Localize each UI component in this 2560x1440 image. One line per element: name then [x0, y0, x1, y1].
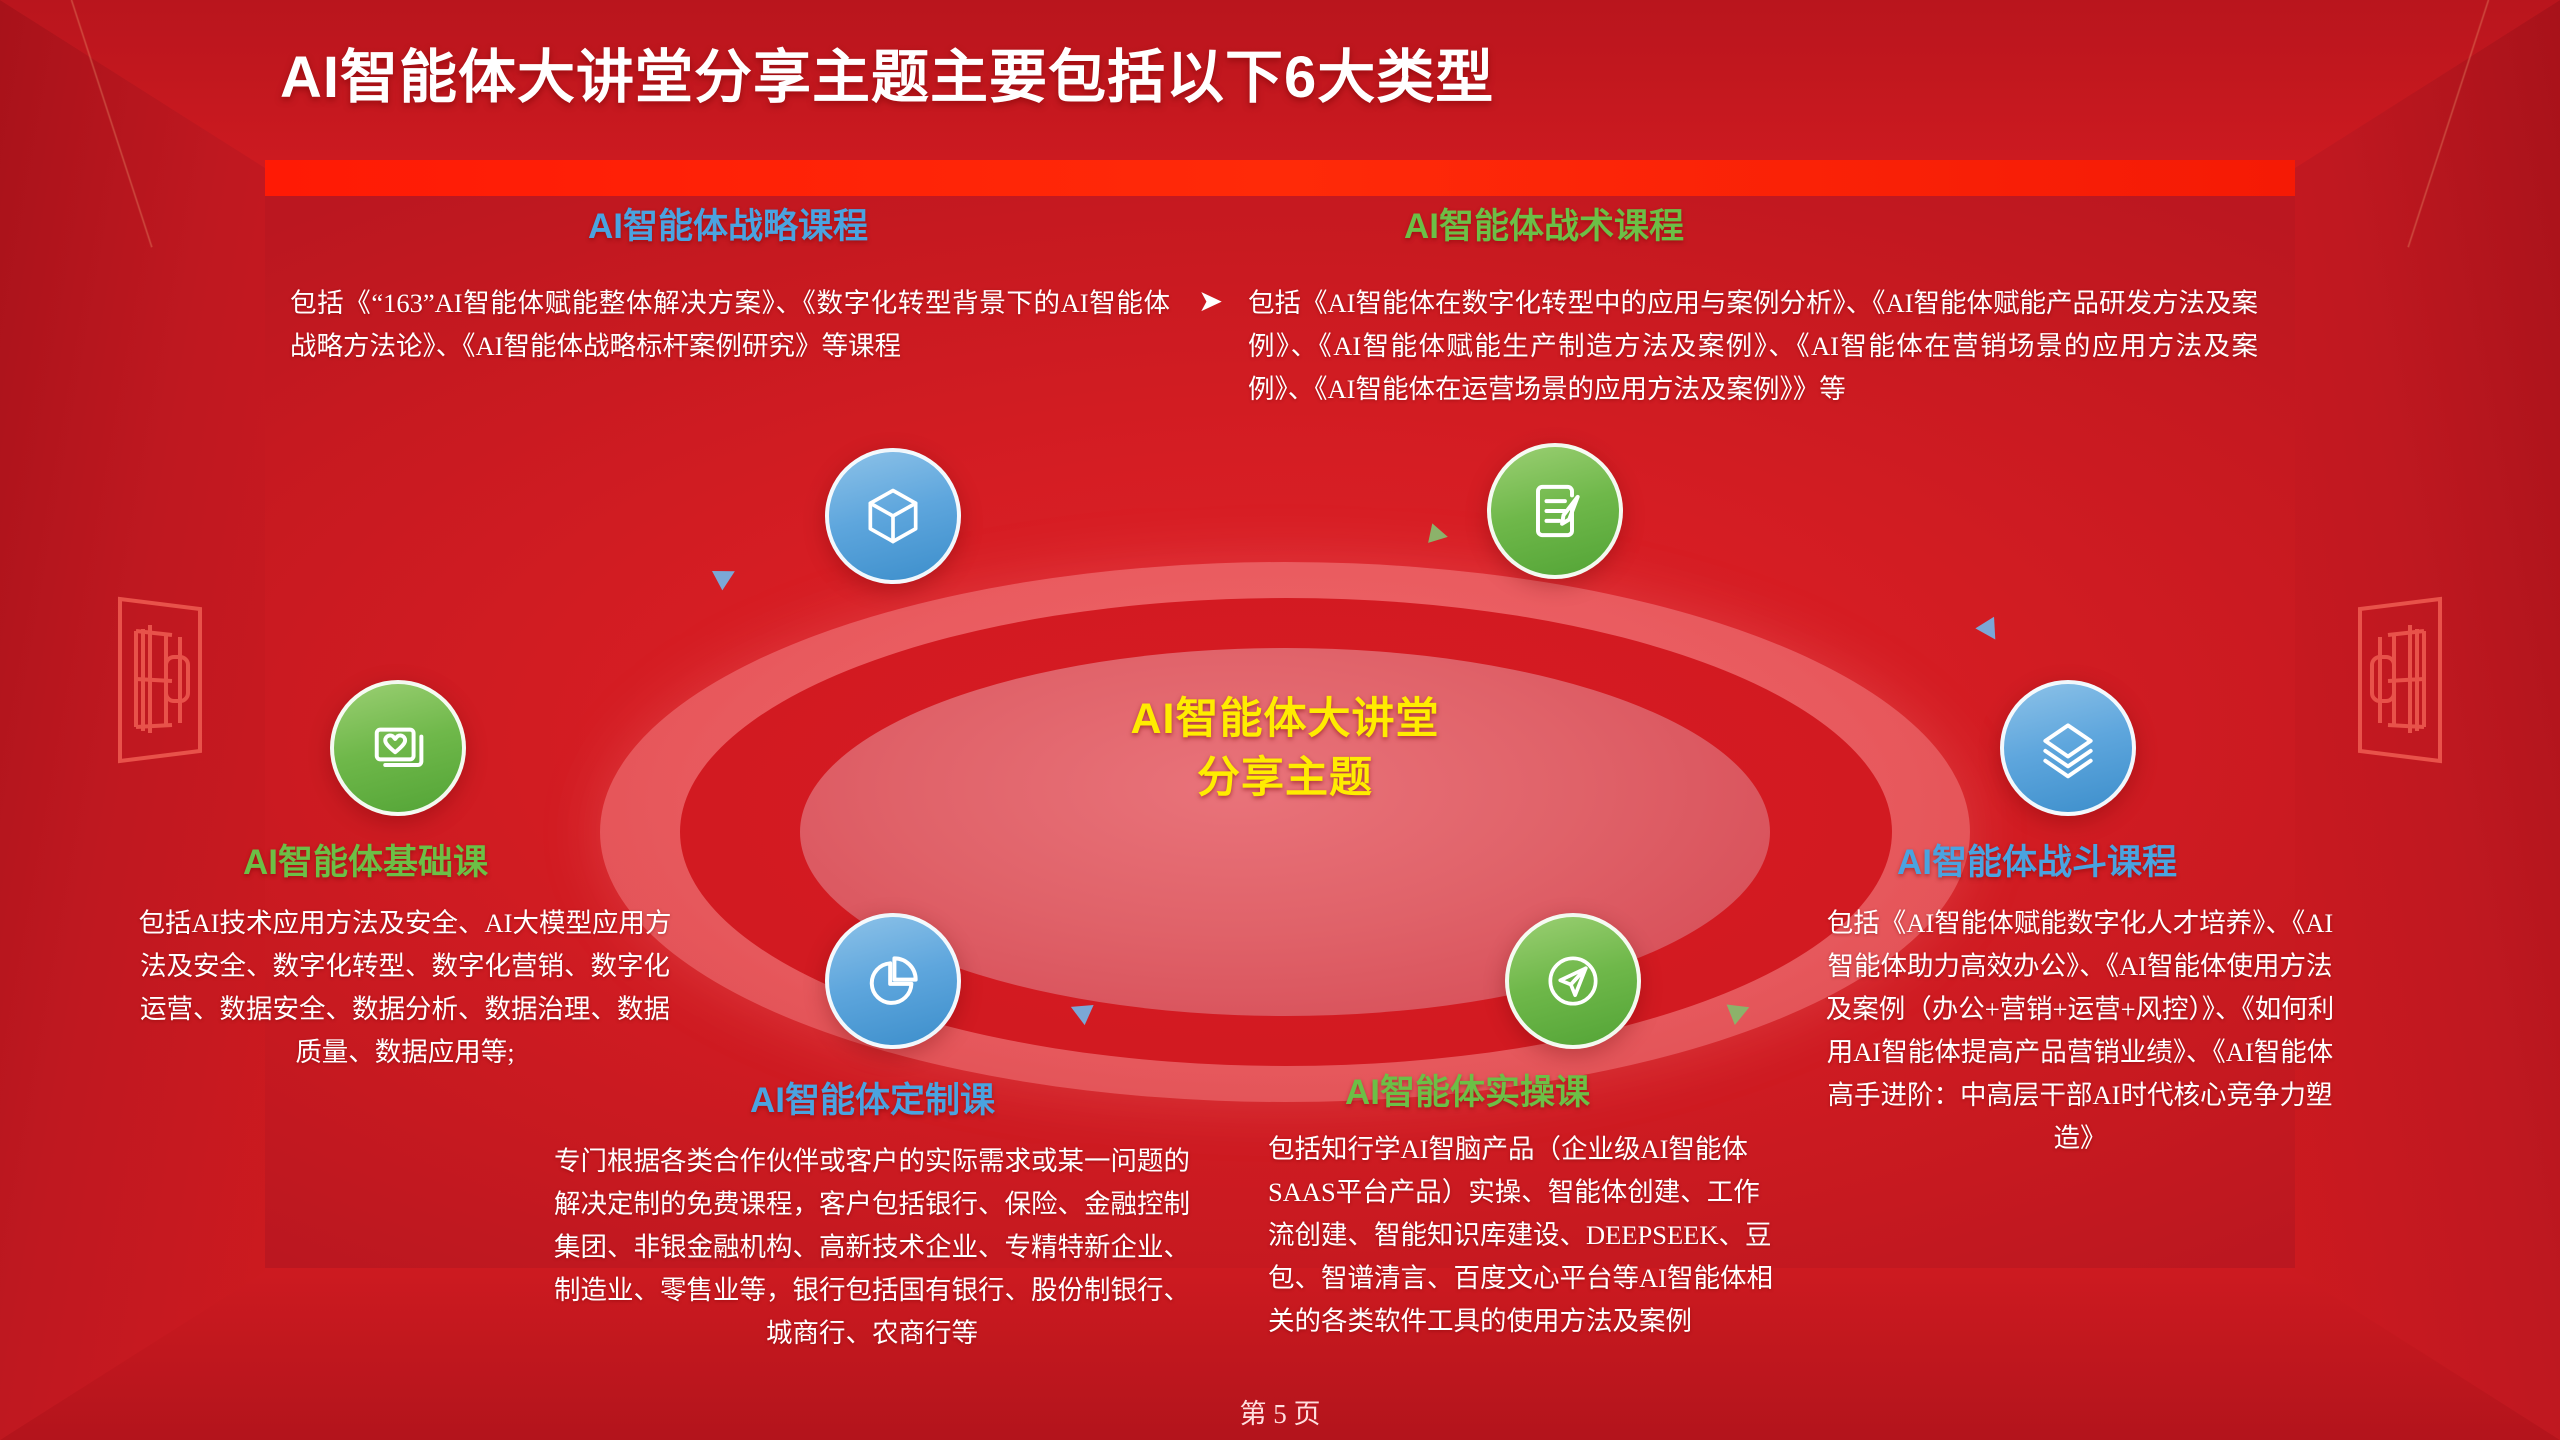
center-label-line1: AI智能体大讲堂 — [800, 690, 1770, 749]
decor-door-right — [2350, 585, 2450, 775]
icon-bubble-combat[interactable] — [2000, 680, 2136, 816]
decor-door-left — [110, 585, 210, 775]
slide-canvas: AI智能体大讲堂分享主题主要包括以下6大类型 AI智能体大讲堂 分享主题 — [0, 0, 2560, 1440]
icon-bubble-custom[interactable] — [825, 913, 961, 1049]
paper-plane-icon — [1539, 947, 1607, 1015]
section-heading-combat: AI智能体战斗课程 — [1897, 834, 2177, 885]
section-heading-basics: AI智能体基础课 — [243, 834, 488, 885]
icon-bubble-strategy[interactable] — [825, 448, 961, 584]
document-edit-icon — [1521, 477, 1589, 545]
section-heading-custom: AI智能体定制课 — [750, 1072, 995, 1123]
layers-icon — [2034, 714, 2102, 782]
center-label-line2: 分享主题 — [800, 749, 1770, 808]
section-body-strategy: 包括《“163”AI智能体赋能整体解决方案》、《数字化转型背景下的AI智能体战略… — [290, 282, 1170, 368]
section-body-tactics: 包括《AI智能体在数字化转型中的应用与案例分析》、《AI智能体赋能产品研发方法及… — [1248, 282, 2258, 411]
cube-icon — [859, 482, 927, 550]
heart-cards-icon — [364, 714, 432, 782]
section-heading-strategy: AI智能体战略课程 — [588, 198, 868, 249]
icon-bubble-tactics[interactable] — [1487, 443, 1623, 579]
section-heading-practice: AI智能体实操课 — [1345, 1064, 1590, 1115]
section-bullet-tactics: ➤ — [1198, 284, 1223, 319]
section-body-practice: 包括知行学AI智脑产品（企业级AI智能体SAAS平台产品）实操、智能体创建、工作… — [1268, 1128, 1778, 1343]
section-body-custom: 专门根据各类合作伙伴或客户的实际需求或某一问题的解决定制的免费课程，客户包括银行… — [552, 1140, 1192, 1355]
page-title: AI智能体大讲堂分享主题主要包括以下6大类型 — [280, 30, 1980, 114]
page-number: 第 5 页 — [0, 1392, 2560, 1431]
section-body-combat: 包括《AI智能体赋能数字化人才培养》、《AI智能体助力高效办公》、《AI智能体使… — [1825, 902, 2335, 1160]
icon-bubble-basics[interactable] — [330, 680, 466, 816]
center-label: AI智能体大讲堂 分享主题 — [800, 690, 1770, 809]
accent-bar — [265, 160, 2295, 196]
section-heading-tactics: AI智能体战术课程 — [1404, 198, 1684, 249]
pie-chart-icon — [859, 947, 927, 1015]
section-body-basics: 包括AI技术应用方法及安全、AI大模型应用方法及安全、数字化转型、数字化营销、数… — [135, 902, 675, 1074]
icon-bubble-practice[interactable] — [1505, 913, 1641, 1049]
